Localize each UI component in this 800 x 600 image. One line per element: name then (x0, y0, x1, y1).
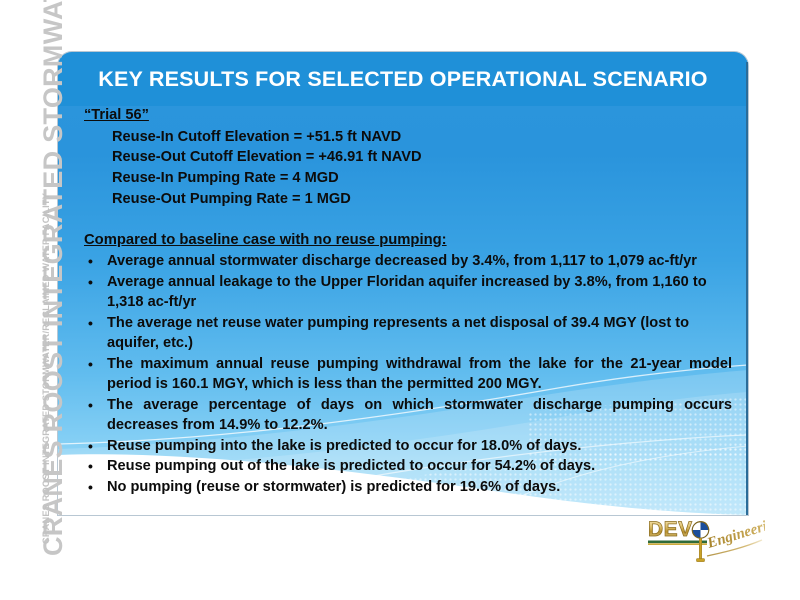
list-item-text: The average net reuse water pumping repr… (107, 315, 689, 351)
logo-artwork: DEVO Engineering (645, 512, 765, 568)
list-item: • The average percentage of days on whic… (84, 396, 732, 436)
bullet-icon: • (88, 252, 93, 272)
list-item-text: Average annual leakage to the Upper Flor… (107, 274, 707, 310)
list-item-text: The maximum annual reuse pumping withdra… (107, 356, 732, 392)
list-item-text: Reuse pumping into the lake is predicted… (107, 438, 581, 454)
list-item: • The average net reuse water pumping re… (84, 314, 732, 354)
list-item: • Reuse pumping out of the lake is predi… (84, 457, 732, 477)
list-item-text: Average annual stormwater discharge decr… (107, 253, 697, 269)
list-item: • Average annual leakage to the Upper Fl… (84, 273, 732, 313)
side-branding: CRANES ROOST INTEGRATED STORMWATER CRANE… (0, 0, 60, 600)
trial-label: “Trial 56” (84, 106, 732, 126)
page-title: KEY RESULTS FOR SELECTED OPERATIONAL SCE… (98, 67, 707, 92)
logo-script-label: Engineering (765, 512, 766, 513)
bullet-icon: • (88, 396, 93, 416)
bullet-icon: • (88, 314, 93, 334)
logo-gold-rule (648, 543, 707, 545)
devo-engineering-logo: DEVO Engineering DEVO Engineering (645, 512, 765, 568)
trial-parameter-1: Reuse-In Cutoff Elevation = +51.5 ft NAV… (112, 127, 732, 148)
body-spacer (84, 210, 732, 231)
trial-parameter-2: Reuse-Out Cutoff Elevation = +46.91 ft N… (112, 147, 732, 168)
list-item: • Average annual stormwater discharge de… (84, 252, 732, 272)
panel-right-edge (746, 62, 748, 515)
bullet-icon: • (88, 273, 93, 293)
list-item-text: The average percentage of days on which … (107, 397, 732, 433)
bullet-icon: • (88, 437, 93, 457)
comparison-heading: Compared to baseline case with no reuse … (84, 231, 732, 251)
slide-body: “Trial 56” Reuse-In Cutoff Elevation = +… (84, 106, 732, 499)
results-bullet-list: • Average annual stormwater discharge de… (84, 252, 732, 498)
slide-title-bar: KEY RESULTS FOR SELECTED OPERATIONAL SCE… (58, 52, 748, 106)
content-panel: KEY RESULTS FOR SELECTED OPERATIONAL SCE… (58, 52, 748, 515)
logo-green-rule (648, 541, 707, 544)
trial-parameter-3: Reuse-In Pumping Rate = 4 MGD (112, 168, 732, 189)
bullet-icon: • (88, 478, 93, 498)
list-item: • The maximum annual reuse pumping withd… (84, 355, 732, 395)
list-item: • No pumping (reuse or stormwater) is pr… (84, 478, 732, 498)
trial-parameter-4: Reuse-Out Pumping Rate = 1 MGD (112, 189, 732, 210)
list-item-text: Reuse pumping out of the lake is predict… (107, 458, 595, 474)
bullet-icon: • (88, 457, 93, 477)
side-brand-secondary-text: CRANES ROOST INTEGRATED STORMWATER/RECLA… (41, 64, 55, 544)
list-item-text: No pumping (reuse or stormwater) is pred… (107, 479, 560, 495)
logo-script-text: Engineering (705, 514, 765, 552)
slide-canvas: CRANES ROOST INTEGRATED STORMWATER CRANE… (0, 0, 800, 600)
logo-wordmark-label: DEVO (765, 512, 766, 513)
bullet-icon: • (88, 355, 93, 375)
list-item: • Reuse pumping into the lake is predict… (84, 437, 732, 457)
